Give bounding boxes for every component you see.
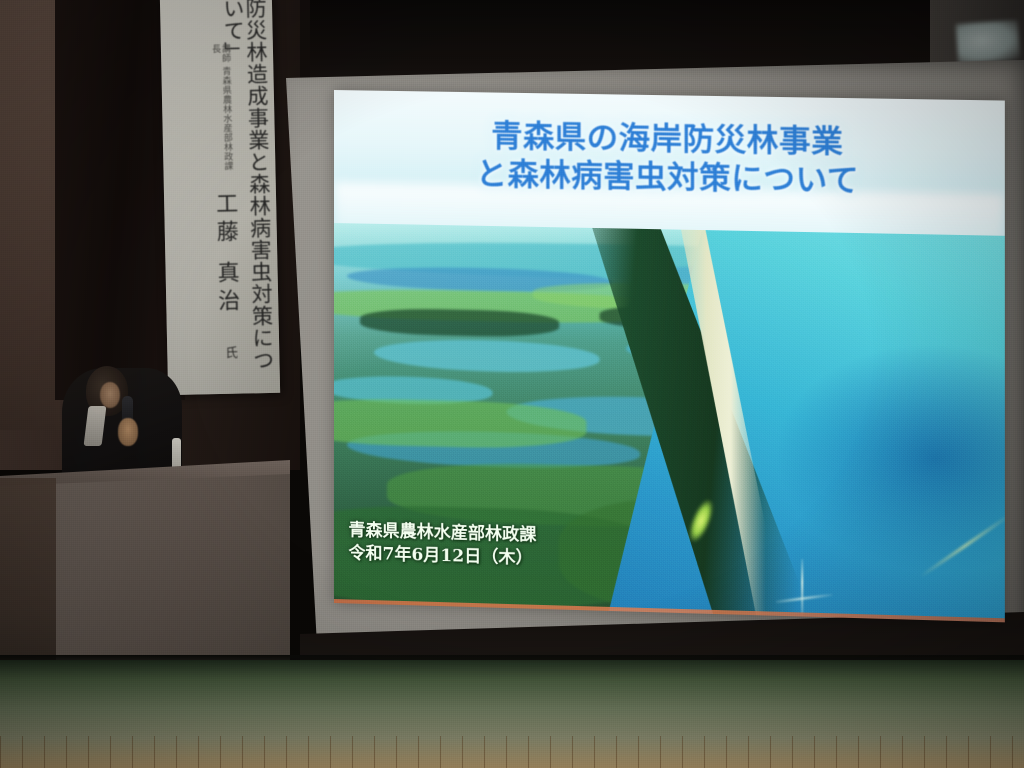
banner-shading	[160, 0, 280, 395]
event-banner: 防災林造成事業と森林病害虫対策について」 講師 青森県農林水産部林政課長 工藤 …	[160, 0, 280, 395]
ceiling-light-reflection	[956, 20, 1021, 64]
speaker-hand	[118, 418, 138, 446]
lens-flare-cross	[801, 559, 803, 618]
slide-caption: 青森県農林水産部林政課 令和7年6月12日（木）	[349, 520, 537, 570]
slide-title-line1: 青森県の海岸防災林事業	[491, 118, 843, 160]
slide-caption-organization: 青森県農林水産部林政課	[349, 521, 537, 546]
projected-slide: 青森県の海岸防災林事業 と森林病害虫対策について 青森県農林水産部林政課 令和7…	[334, 90, 1005, 622]
presentation-photo: 青森県の海岸防災林事業 と森林病害虫対策について 青森県農林水産部林政課 令和7…	[0, 0, 1024, 768]
speaker-face	[100, 382, 120, 408]
left-wall-lit-strip	[0, 0, 60, 430]
slide-title: 青森県の海岸防災林事業 と森林病害虫対策について	[334, 114, 1005, 205]
floor-front-edge	[0, 736, 1024, 768]
